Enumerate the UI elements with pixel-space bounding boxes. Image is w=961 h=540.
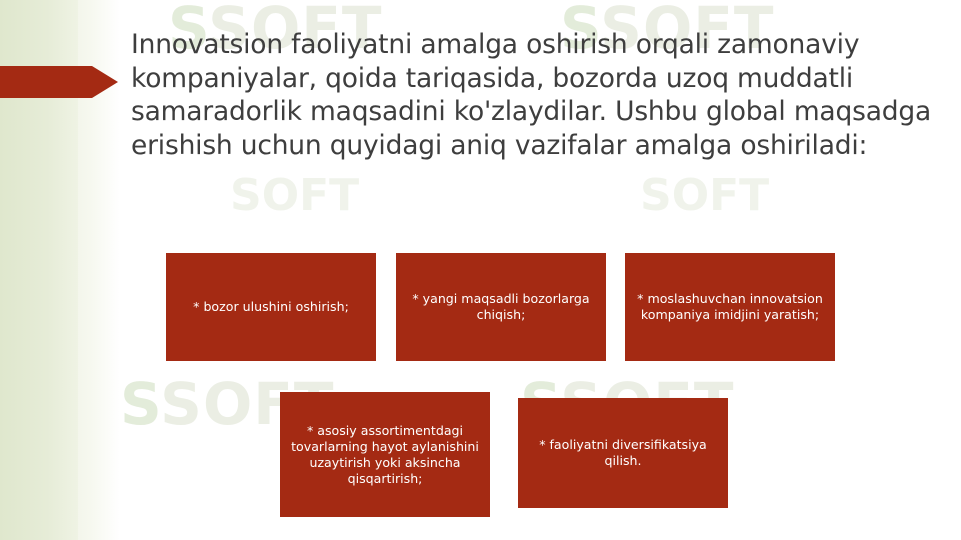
task-box: * bozor ulushini oshirish; (166, 253, 376, 361)
task-box-label: * yangi maqsadli bozorlarga chiqish; (404, 291, 598, 323)
task-box: * asosiy assortimentdagi tovarlarning ha… (280, 392, 490, 517)
task-box-label: * faoliyatni diversifikatsiya qilish. (526, 437, 720, 469)
task-box-label: * asosiy assortimentdagi tovarlarning ha… (288, 423, 482, 487)
watermark: SOFT (640, 170, 769, 221)
task-box-label: * bozor ulushini oshirish; (174, 299, 368, 315)
task-box: * yangi maqsadli bozorlarga chiqish; (396, 253, 606, 361)
watermark: SOFT (230, 170, 359, 221)
task-box: * faoliyatni diversifikatsiya qilish. (518, 398, 728, 508)
slide: SSOFT SSOFT SSOFT SSOFT SOFT SOFT Innova… (0, 0, 961, 540)
slide-title: Innovatsion faoliyatni amalga oshirish o… (131, 28, 931, 162)
task-box-label: * moslashuvchan innovatsion kompaniya im… (633, 291, 827, 323)
red-arrow-icon (0, 62, 118, 102)
task-box: * moslashuvchan innovatsion kompaniya im… (625, 253, 835, 361)
